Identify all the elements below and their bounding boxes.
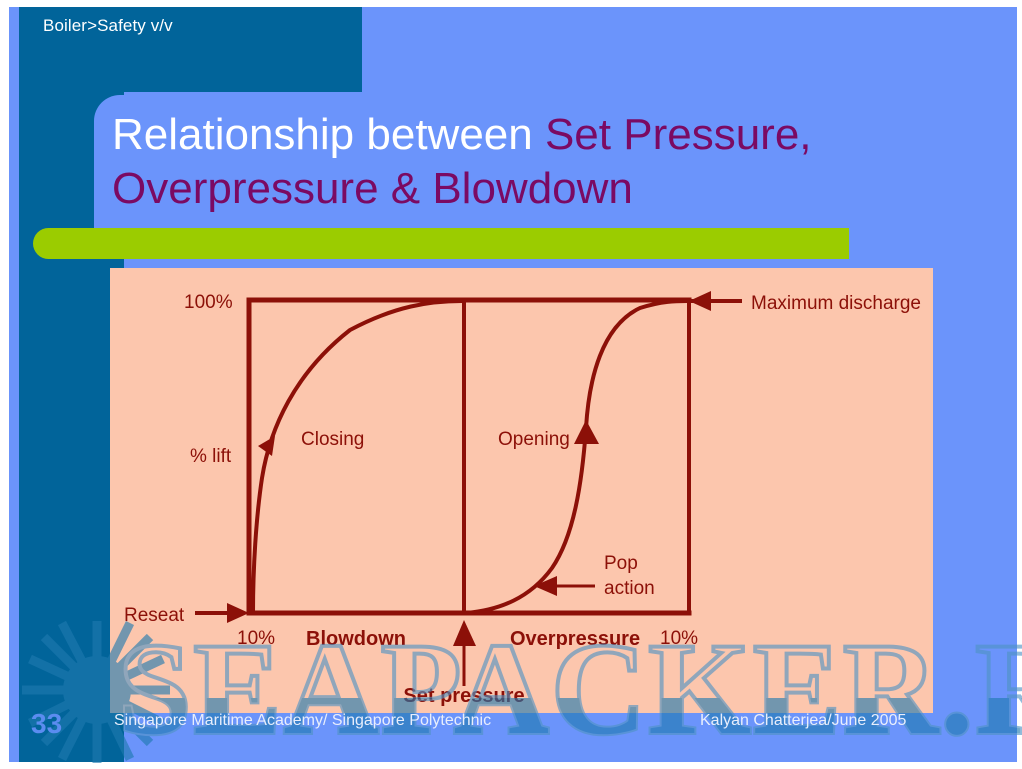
breadcrumb: Boiler>Safety v/v bbox=[43, 16, 173, 36]
reseat-label: Reseat bbox=[124, 605, 185, 626]
chart-panel: Maximum discharge Reseat Pop action Clos… bbox=[110, 268, 933, 713]
closing-curve bbox=[253, 301, 462, 613]
set-pressure-annotation: Set pressure bbox=[403, 620, 524, 707]
reseat-annotation: Reseat bbox=[124, 603, 249, 626]
y-axis-label: % lift bbox=[190, 446, 232, 467]
page-number: 33 bbox=[31, 708, 62, 740]
pop-action-label-line1: Pop bbox=[604, 553, 638, 574]
footer-right: Kalyan Chatterjea/June 2005 bbox=[700, 712, 906, 730]
set-pressure-label: Set pressure bbox=[403, 685, 524, 707]
pop-action-label-line2: action bbox=[604, 578, 655, 599]
title-lead: Relationship between bbox=[112, 110, 545, 159]
page-title: Relationship between Set Pressure, Overp… bbox=[112, 108, 972, 216]
pressure-lift-chart: Maximum discharge Reseat Pop action Clos… bbox=[110, 268, 933, 713]
reseat-arrow-icon bbox=[227, 603, 249, 623]
maximum-discharge-annotation: Maximum discharge bbox=[689, 291, 921, 314]
blowdown-percent-label: 10% bbox=[237, 628, 275, 649]
slide-canvas: Boiler>Safety v/v Relationship between S… bbox=[0, 0, 1022, 769]
opening-series-label: Opening bbox=[498, 429, 570, 450]
title-underline-bar bbox=[33, 228, 849, 259]
opening-curve bbox=[466, 301, 687, 613]
blowdown-section-label: Blowdown bbox=[306, 628, 406, 650]
set-pressure-arrow-icon bbox=[453, 620, 476, 646]
footer-left: Singapore Maritime Academy/ Singapore Po… bbox=[114, 712, 491, 730]
pop-action-annotation: Pop action bbox=[534, 553, 655, 599]
opening-arrowhead-icon bbox=[574, 420, 599, 444]
overpressure-percent-label: 10% bbox=[660, 628, 698, 649]
overpressure-section-label: Overpressure bbox=[510, 628, 640, 650]
maximum-discharge-arrow-icon bbox=[689, 291, 711, 311]
maximum-discharge-label: Maximum discharge bbox=[751, 293, 921, 314]
closing-series-label: Closing bbox=[301, 429, 364, 450]
y-tick-100-label: 100% bbox=[184, 292, 233, 313]
